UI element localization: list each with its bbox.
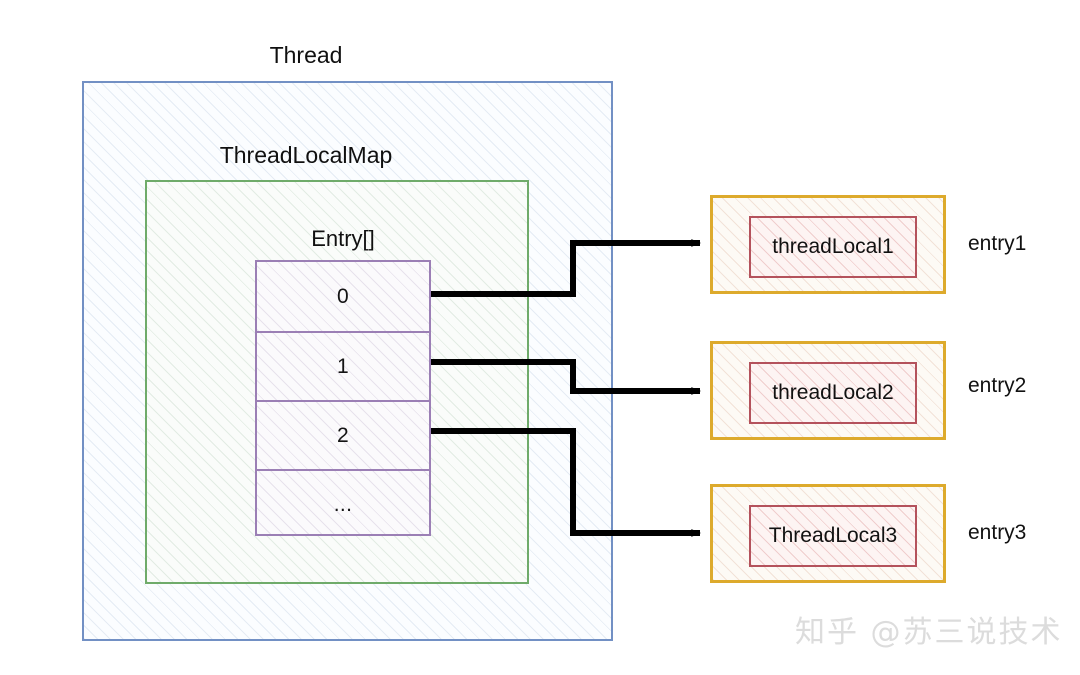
threadlocal-name: threadLocal2 (772, 381, 893, 405)
threadlocal-card-2[interactable]: threadLocal2 (710, 341, 946, 440)
entry-label-2: entry2 (968, 374, 1026, 398)
threadlocal-inner-1: threadLocal1 (749, 216, 917, 278)
threadlocal-name: threadLocal1 (772, 235, 893, 259)
entry-slot-index: ... (334, 493, 352, 517)
entry-slot-index: 0 (337, 285, 349, 309)
entry-slot-ellipsis[interactable]: ... (257, 469, 429, 538)
entry-slot-1[interactable]: 1 (257, 331, 429, 400)
threadlocalmap-label: ThreadLocalMap (0, 142, 612, 169)
entry-array-box: 0 1 2 ... (255, 260, 431, 536)
entry-slot-0[interactable]: 0 (257, 262, 429, 331)
entry-slot-index: 2 (337, 424, 349, 448)
entry-slot-index: 1 (337, 355, 349, 379)
threadlocal-inner-2: threadLocal2 (749, 362, 917, 424)
diagram-canvas: 0 1 2 ... Thread ThreadLocalMap Entry[] … (0, 0, 1080, 675)
entry-slot-2[interactable]: 2 (257, 400, 429, 469)
entry-label-1: entry1 (968, 232, 1026, 256)
entry-label-3: entry3 (968, 521, 1026, 545)
thread-label: Thread (0, 42, 612, 69)
entry-array-label: Entry[] (255, 226, 431, 252)
threadlocal-inner-3: ThreadLocal3 (749, 505, 917, 567)
threadlocal-name: ThreadLocal3 (769, 524, 897, 548)
threadlocal-card-1[interactable]: threadLocal1 (710, 195, 946, 294)
watermark: 知乎 @苏三说技术 (795, 607, 1063, 651)
threadlocal-card-3[interactable]: ThreadLocal3 (710, 484, 946, 583)
